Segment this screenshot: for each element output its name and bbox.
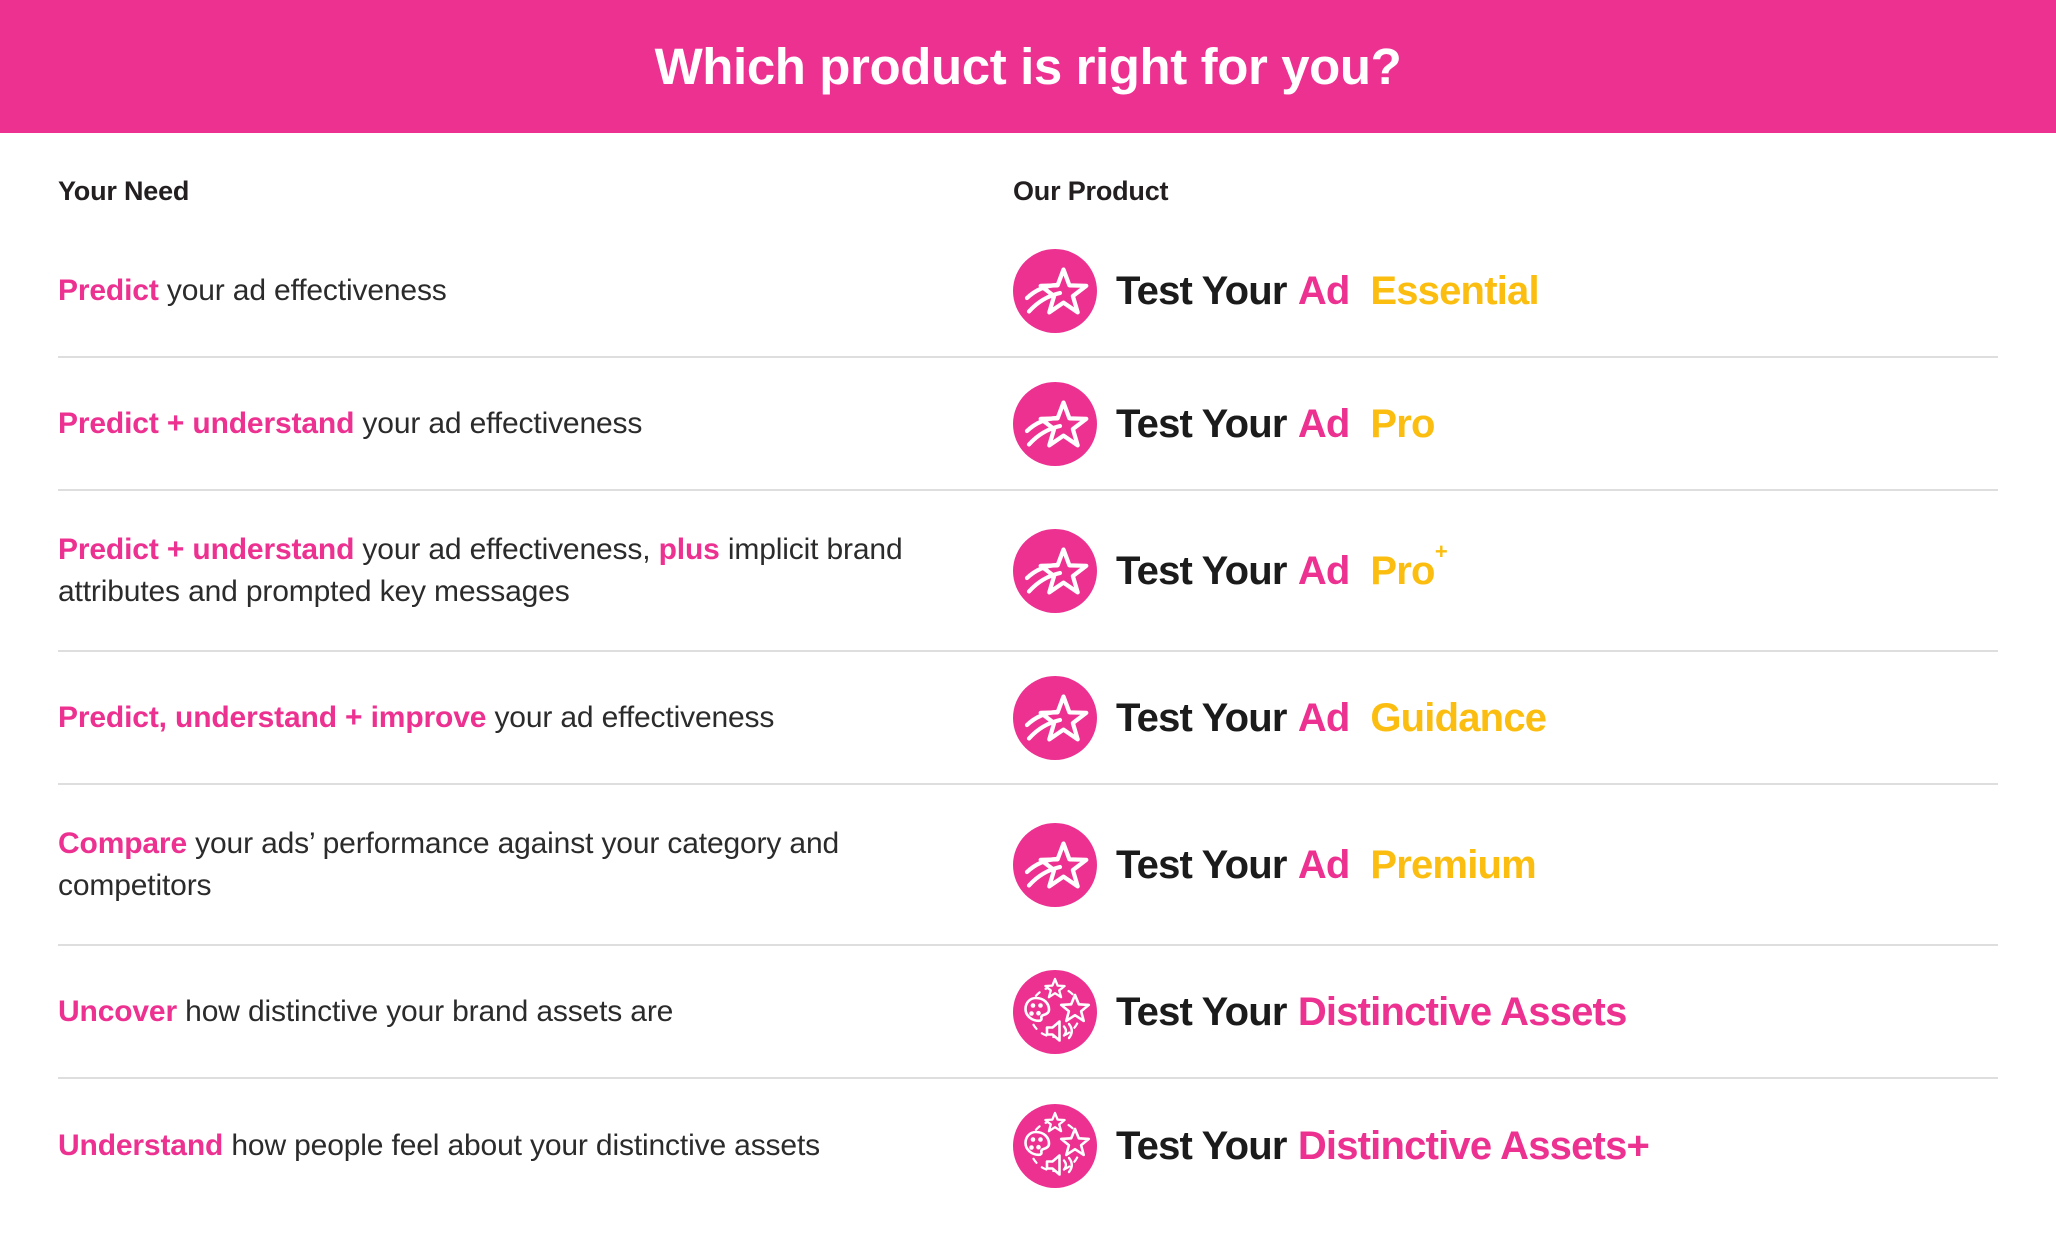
table-row: Predict + understand your ad effectivene…	[58, 358, 1998, 491]
product-tier-superscript: +	[1435, 539, 1447, 564]
column-header-need-cell: Your Need	[58, 176, 1013, 207]
need-description: Uncover how distinctive your brand asset…	[58, 991, 1013, 1032]
product-wordmark: Test YourAdPremium	[1116, 845, 1536, 885]
star-swoosh-icon	[1013, 382, 1097, 466]
product-cell[interactable]: Test YourAdGuidance	[1013, 676, 1998, 760]
need-description: Predict + understand your ad effectivene…	[58, 529, 1013, 612]
product-cell[interactable]: Test YourAdPremium	[1013, 823, 1998, 907]
need-description: Compare your ads’ performance against yo…	[58, 823, 1013, 906]
brand-prefix: Test Your	[1116, 404, 1287, 444]
product-cell[interactable]: Test YourDistinctive Assets	[1013, 970, 1998, 1054]
need-highlight: Understand	[58, 1129, 223, 1162]
column-header-product-cell: Our Product	[1013, 176, 1998, 207]
brand-mid: Distinctive Assets+	[1298, 1126, 1649, 1166]
product-tier: Premium	[1370, 845, 1536, 885]
product-wordmark: Test YourAdPro+	[1116, 551, 1447, 591]
product-tier: Pro+	[1370, 551, 1447, 591]
need-highlight: Predict + understand	[58, 407, 354, 440]
need-highlight: Predict + understand	[58, 533, 354, 566]
brand-mid: Ad	[1298, 698, 1350, 738]
product-cell[interactable]: Test YourAdEssential	[1013, 249, 1998, 333]
need-description: Predict your ad effectiveness	[58, 270, 1013, 311]
product-tier: Pro	[1370, 404, 1434, 444]
need-rest: how distinctive your brand assets are	[177, 995, 673, 1028]
product-tier: Guidance	[1370, 698, 1546, 738]
need-rest: your ad effectiveness	[159, 274, 447, 307]
need-rest: your ad effectiveness	[354, 407, 642, 440]
star-swoosh-icon	[1013, 676, 1097, 760]
brand-prefix: Test Your	[1116, 271, 1287, 311]
product-wordmark: Test YourAdEssential	[1116, 271, 1539, 311]
brand-prefix: Test Your	[1116, 698, 1287, 738]
brand-prefix: Test Your	[1116, 992, 1287, 1032]
need-description: Predict + understand your ad effectivene…	[58, 403, 1013, 444]
brand-mid: Ad	[1298, 404, 1350, 444]
need-highlight: Predict, understand + improve	[58, 701, 486, 734]
table-row: Predict + understand your ad effectivene…	[58, 491, 1998, 652]
table-row: Predict, understand + improve your ad ef…	[58, 652, 1998, 785]
column-header-your-need: Your Need	[58, 176, 189, 206]
column-header-our-product: Our Product	[1013, 176, 1168, 206]
product-wordmark: Test YourDistinctive Assets	[1116, 992, 1627, 1032]
need-highlight: Uncover	[58, 995, 177, 1028]
need-highlight: Compare	[58, 827, 187, 860]
product-wordmark: Test YourDistinctive Assets+	[1116, 1126, 1649, 1166]
table-row: Uncover how distinctive your brand asset…	[58, 946, 1998, 1079]
star-swoosh-icon	[1013, 249, 1097, 333]
product-tier: Essential	[1370, 271, 1538, 311]
brand-mid: Ad	[1298, 271, 1350, 311]
product-wordmark: Test YourAdPro	[1116, 404, 1435, 444]
need-rest: your ad effectiveness,	[354, 533, 658, 566]
product-cell[interactable]: Test YourDistinctive Assets+	[1013, 1104, 1998, 1188]
star-swoosh-icon	[1013, 529, 1097, 613]
need-highlight-secondary: plus	[659, 533, 720, 566]
comparison-table: Your Need Our Product Predict your ad ef…	[0, 133, 2056, 1242]
product-cell[interactable]: Test YourAdPro+	[1013, 529, 1998, 613]
star-swoosh-icon	[1013, 823, 1097, 907]
table-row: Compare your ads’ performance against yo…	[58, 785, 1998, 946]
table-row: Understand how people feel about your di…	[58, 1079, 1998, 1212]
product-tier-label: Pro	[1370, 549, 1434, 593]
table-header-row: Your Need Our Product	[58, 133, 1998, 225]
page-title: Which product is right for you?	[655, 41, 1402, 92]
brand-prefix: Test Your	[1116, 551, 1287, 591]
page-banner: Which product is right for you?	[0, 0, 2056, 133]
need-description: Predict, understand + improve your ad ef…	[58, 697, 1013, 738]
distinctive-assets-icon	[1013, 1104, 1097, 1188]
table-row: Predict your ad effectiveness Test YourA…	[58, 225, 1998, 358]
distinctive-assets-icon	[1013, 970, 1097, 1054]
brand-mid: Ad	[1298, 845, 1350, 885]
product-wordmark: Test YourAdGuidance	[1116, 698, 1546, 738]
brand-prefix: Test Your	[1116, 845, 1287, 885]
product-cell[interactable]: Test YourAdPro	[1013, 382, 1998, 466]
product-comparison-page: Which product is right for you? Your Nee…	[0, 0, 2056, 1242]
brand-prefix: Test Your	[1116, 1126, 1287, 1166]
need-rest: your ad effectiveness	[486, 701, 774, 734]
need-rest: how people feel about your distinctive a…	[223, 1129, 820, 1162]
brand-mid: Distinctive Assets	[1298, 992, 1627, 1032]
brand-mid: Ad	[1298, 551, 1350, 591]
need-highlight: Predict	[58, 274, 159, 307]
need-description: Understand how people feel about your di…	[58, 1125, 1013, 1166]
